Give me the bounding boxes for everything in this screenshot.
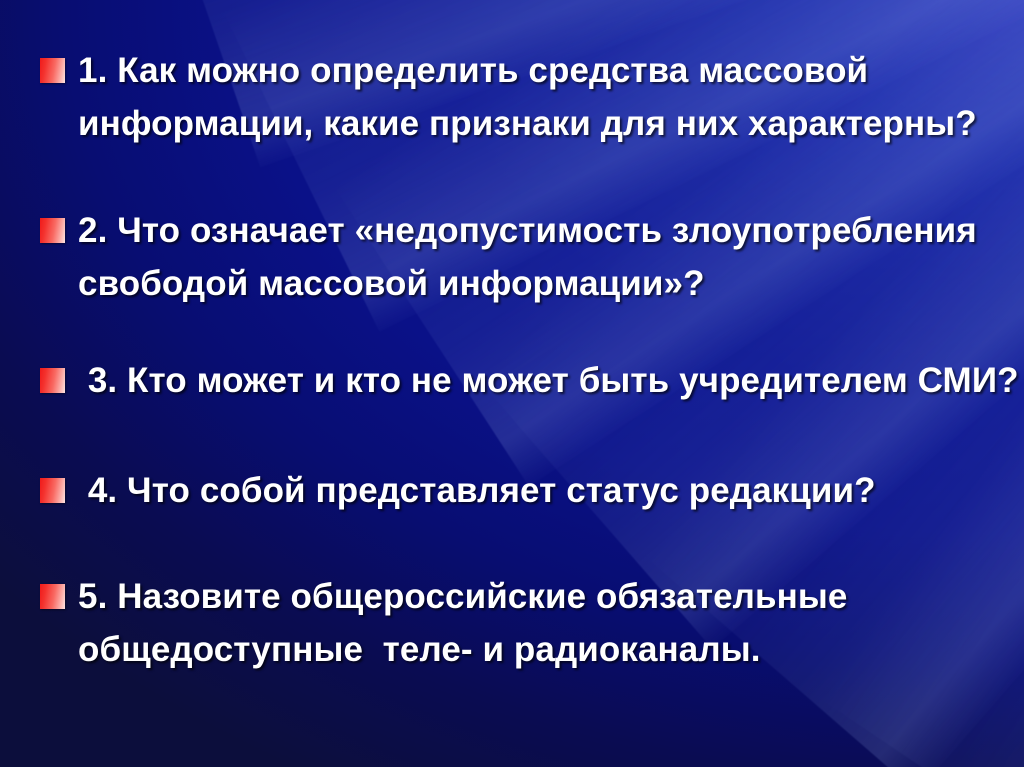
presentation-slide: 1. Как можно определить средства массово… bbox=[0, 0, 1024, 767]
bullet-item-5-text: 5. Назовите общероссийские обязательные … bbox=[0, 570, 1024, 676]
bullet-item-2-text: 2. Что означает «недопустимость злоупотр… bbox=[0, 204, 1024, 310]
bullet-item-1-text: 1. Как можно определить средства массово… bbox=[0, 44, 1024, 150]
bullet-item-3-text: 3. Кто может и кто не может быть учредит… bbox=[0, 354, 1024, 407]
bullet-item-4-text: 4. Что собой представляет статус редакци… bbox=[0, 464, 1024, 517]
